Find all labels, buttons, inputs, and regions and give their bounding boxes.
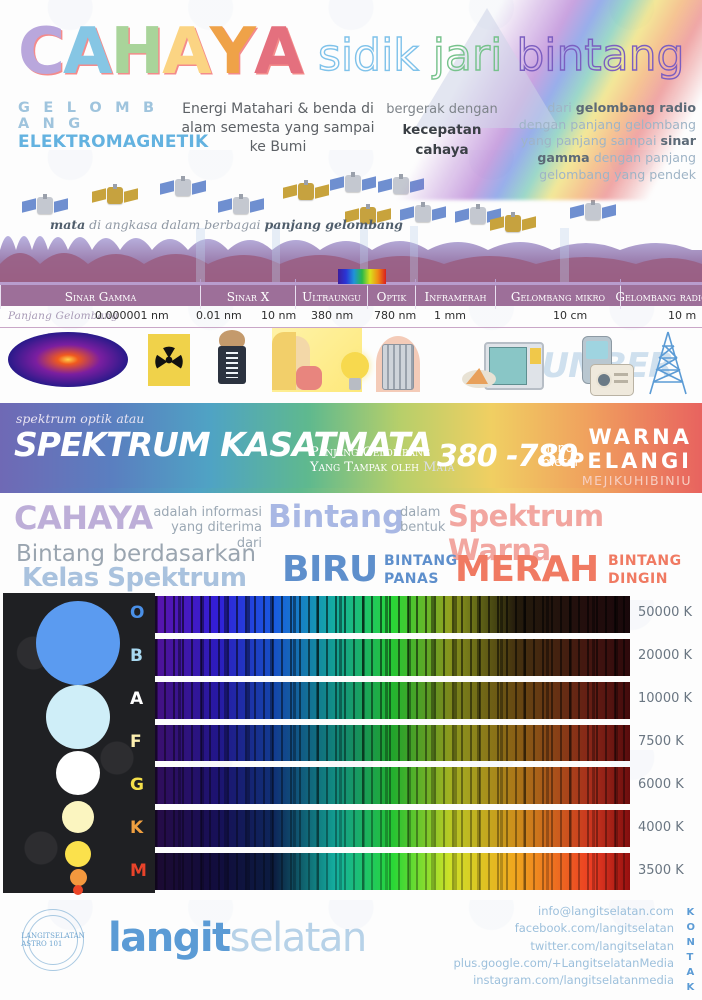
brand-langit: langit [108, 915, 230, 961]
visible-spectrum-panel: spektrum optik atau SPEKTRUM KASATMATA P… [0, 403, 702, 488]
temperature-label-F: 7500 K [638, 734, 684, 749]
spectral-class-label-K: K [130, 818, 143, 838]
optical-panel-wavelength-caption: Panjang GelombangYang Tampak oleh Mata [310, 445, 455, 476]
star-disc-G [65, 841, 91, 867]
warna-label: WARNA [569, 425, 692, 449]
spectral-class-label-M: M [130, 861, 147, 881]
temperature-label-K: 4000 K [638, 820, 684, 835]
contact-line[interactable]: twitter.com/langitselatan [453, 938, 674, 955]
title-letter-3: A [162, 20, 210, 84]
poster-footer: LANGITSELATAN ASTRO 101 langitselatan in… [0, 893, 702, 983]
panas-line2: PANAS [384, 571, 458, 589]
wavelength-tick-label: 780 nm [374, 309, 416, 322]
light-bulb-icon [338, 350, 372, 392]
band-tick [495, 279, 496, 286]
title-letter-4: Y [210, 20, 254, 84]
dalam-line1: dalam [400, 505, 445, 520]
spectrum-strip-B [155, 639, 630, 676]
satellite-hubble [92, 184, 138, 210]
subtitle-word-sidik: sidik [318, 30, 419, 81]
brand-wordmark: langitselatan [108, 915, 366, 961]
subtitle-word-jari: jari [433, 30, 503, 81]
rainbow-colors-label: WARNA PELANGI MEJIKUHIBINIU [569, 425, 692, 488]
satellite-spitzer [160, 176, 206, 202]
intro-col-energy: Energi Matahari & benda di alam semesta … [178, 100, 378, 157]
intro-col-range: dari gelombang radio dengan panjang gelo… [506, 100, 696, 184]
kontak-letter: K [686, 905, 696, 920]
contact-list: info@langitselatan.comfacebook.com/langi… [453, 903, 674, 989]
spectral-class-label-A: A [130, 689, 143, 709]
band-tick [415, 279, 416, 286]
poster-header: CAHAYA sidik jari bintang [0, 0, 702, 100]
statement-bintang-dingin: BINTANG DINGIN [608, 553, 682, 588]
spectral-class-label-O: O [130, 603, 144, 623]
spectrum-strip-A [155, 682, 630, 719]
contact-line[interactable]: plus.google.com/+LangitselatanMedia [453, 955, 674, 972]
spectrum-strip-O [155, 596, 630, 633]
adalah-line1: adalah informasi [152, 505, 262, 520]
band-tick [200, 279, 201, 286]
intro-col-speed: bergerak dengan kecepatan cahaya [382, 100, 502, 161]
dalam-line2: bentuk [400, 520, 445, 535]
infographic-poster: CAHAYA sidik jari bintang G E L O M B A … [0, 0, 702, 1000]
dingin-line1: BINTANG [608, 553, 682, 571]
statement-bintang-panas: BINTANG PANAS [384, 553, 458, 588]
spectrum-strip-M [155, 853, 630, 890]
wavelength-tick-label: 1 mm [434, 309, 466, 322]
kontak-letter: K [686, 980, 696, 995]
statement-biru: BIRU [282, 549, 378, 590]
intro-elektromagnetik-label: ELEKTROMAGNETIK [18, 132, 178, 152]
contact-line[interactable]: info@langitselatan.com [453, 903, 674, 920]
wavelength-tick-label: 10 cm [553, 309, 587, 322]
wavelength-tick-label: 380 nm [311, 309, 353, 322]
page-subtitle: sidik jari bintang [318, 30, 684, 81]
title-letter-2: H [111, 20, 163, 84]
intro-kecepatan-label: kecepatan cahaya [403, 122, 482, 159]
statement-block: CAHAYA adalah informasi yang diterima da… [0, 493, 702, 593]
spectral-class-label-F: F [130, 732, 142, 752]
spectral-class-label-G: G [130, 775, 144, 795]
statement-bintang: Bintang [268, 499, 404, 535]
xray-scan-icon [208, 330, 256, 390]
radio-tower-icon [640, 330, 696, 396]
langitselatan-seal-logo: LANGITSELATAN ASTRO 101 [22, 909, 84, 971]
stellar-spectral-class-chart: O50000 KB20000 KA10000 KF7500 KG6000 KK4… [0, 593, 702, 893]
heater-radiator-icon [376, 336, 420, 392]
gamma-sky-map-icon [8, 332, 128, 387]
optical-spectrum-chip-icon [338, 269, 386, 284]
statement-cahaya: CAHAYA [14, 499, 153, 537]
optical-panel-lead: spektrum optik atau [16, 411, 144, 426]
spectrum-strip-G [155, 767, 630, 804]
pelangi-label: PELANGI [569, 449, 692, 473]
satellite-xmm [330, 172, 376, 198]
seal-text: LANGITSELATAN ASTRO 101 [23, 910, 83, 970]
kontak-letter: N [686, 935, 696, 950]
spectral-class-label-B: B [130, 646, 143, 666]
statement-dalam-bentuk: dalam bentuk [400, 505, 445, 536]
title-letter-0: C [18, 20, 63, 84]
temperature-label-M: 3500 K [638, 863, 684, 878]
dingin-line2: DINGIN [608, 571, 682, 589]
radio-receiver-icon [590, 364, 634, 396]
star-disc-F [62, 801, 94, 833]
satellite-caption: mata di angkasa dalam berbagai panjang g… [50, 217, 403, 232]
title-letter-5: A [254, 20, 302, 84]
satellite-radio-dish [570, 200, 616, 226]
star-disc-O [36, 601, 120, 685]
contact-line[interactable]: facebook.com/langitselatan [453, 920, 674, 937]
wavelength-scale: Panjang Gelombang 0.000001 nm0.01 nm10 n… [0, 306, 702, 328]
kontak-letter: A [686, 965, 696, 980]
wavelength-tick-label: 0.000001 nm [95, 309, 169, 322]
temperature-label-A: 10000 K [638, 691, 692, 706]
statement-merah: MERAH [455, 549, 599, 590]
subtitle-word-bintang: bintang [516, 30, 684, 81]
spectrum-strip-F [155, 725, 630, 762]
page-title: CAHAYA [18, 20, 301, 84]
microwave-oven-icon [462, 342, 544, 392]
wavelength-tick-label: 10 nm [261, 309, 296, 322]
intro-gelombang-label: G E L O M B A N G [18, 100, 178, 132]
kontak-vertical-label: KONTAK [686, 905, 696, 995]
satellite-fermi [283, 180, 329, 206]
temperature-label-B: 20000 K [638, 648, 692, 663]
band-tick [295, 279, 296, 286]
title-letter-1: A [63, 20, 111, 84]
kontak-letter: O [686, 920, 696, 935]
temperature-label-O: 50000 K [638, 605, 692, 620]
wavelength-tick-label: 10 m [668, 309, 696, 322]
spectrum-strip-K [155, 810, 630, 847]
electromagnetic-band-bar: Sinar GammaSinar XUltraunguOptikInframer… [0, 282, 702, 306]
brand-selatan: selatan [230, 915, 366, 961]
statement-kelas-spektrum: Kelas Spektrum [22, 563, 246, 593]
radiation-hazard-icon [148, 334, 190, 386]
intro-bergerak-label: bergerak dengan [382, 100, 502, 120]
satellite-iras [400, 202, 446, 228]
mejikuhibiniu-label: MEJIKUHIBINIU [569, 473, 692, 488]
intro-text-row: G E L O M B A N G ELEKTROMAGNETIK Energi… [0, 100, 702, 172]
band-tick [620, 279, 621, 286]
contact-line[interactable]: instagram.com/langitselatanmedia [453, 972, 674, 989]
star-disc-A [56, 751, 100, 795]
wavelength-tick-label: 0.01 nm [196, 309, 242, 322]
star-disc-K [70, 869, 87, 886]
temperature-label-G: 6000 K [638, 777, 684, 792]
satellite-planck [490, 212, 536, 238]
kontak-letter: T [686, 950, 696, 965]
intro-col-electromagnetic: G E L O M B A N G ELEKTROMAGNETIK [18, 100, 178, 152]
source-icons-row: SUMBER [0, 328, 702, 403]
panas-line1: BINTANG [384, 553, 458, 571]
star-disc-B [46, 685, 110, 749]
